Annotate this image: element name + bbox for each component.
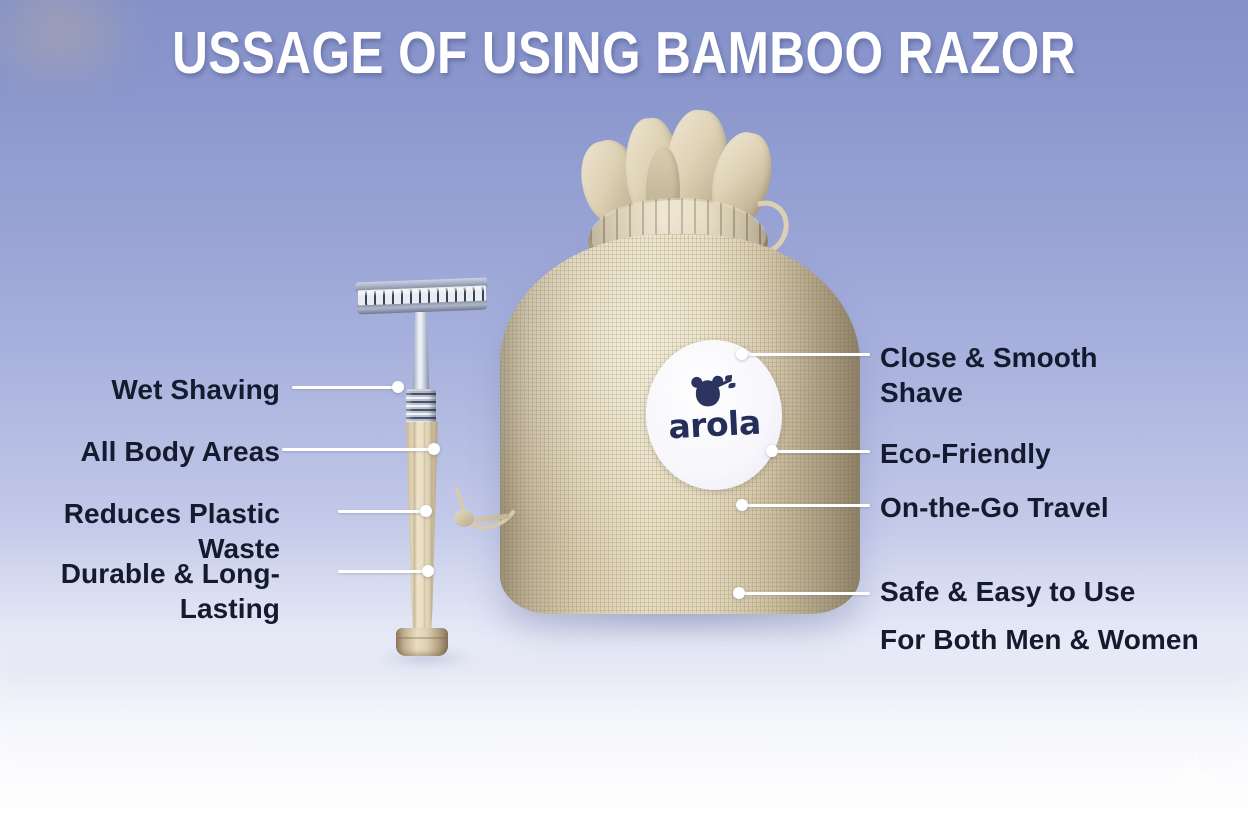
callout-close-smooth-shave: Close & Smooth Shave [880, 340, 1098, 410]
callout-all-body-areas: All Body Areas [80, 434, 280, 469]
pouch-drawstring-cord [454, 476, 528, 540]
leader-dot-durable-long-lasting [422, 565, 434, 577]
leader-dot-on-the-go-travel [736, 499, 748, 511]
leader-dot-eco-friendly [766, 445, 778, 457]
brand-subtext [648, 454, 784, 461]
jute-drawstring-pouch: arola [470, 104, 890, 624]
leader-line-reduces-plastic-waste [338, 510, 426, 513]
callout-on-the-go-travel: On-the-Go Travel [880, 490, 1109, 525]
razor-handle-base [396, 628, 448, 656]
razor-neck [410, 312, 432, 392]
leader-line-safe-easy-to-use [742, 592, 870, 595]
razor-head [355, 277, 488, 316]
leader-line-close-smooth-shave [742, 353, 870, 356]
infographic-canvas: USSAGE OF USING BAMBOO RAZOR [0, 0, 1248, 832]
callout-wet-shaving: Wet Shaving [111, 372, 280, 407]
callout-durable-long-lasting: Durable & Long-Lasting [0, 556, 280, 626]
brand-name: arola [646, 404, 784, 444]
leader-line-on-the-go-travel [742, 504, 870, 507]
leader-line-all-body-areas [282, 448, 434, 451]
four-point-star-icon [1168, 750, 1222, 804]
leader-dot-all-body-areas [428, 443, 440, 455]
callout-eco-friendly: Eco-Friendly [880, 436, 1051, 471]
razor-bamboo-handle [400, 422, 444, 636]
razor-knurled-collar [406, 389, 436, 425]
leader-dot-reduces-plastic-waste [420, 505, 432, 517]
page-title: USSAGE OF USING BAMBOO RAZOR [100, 22, 1148, 84]
leader-line-durable-long-lasting [338, 570, 428, 573]
callout-safe-easy-to-use: Safe & Easy to Use [880, 574, 1135, 609]
leader-dot-wet-shaving [392, 381, 404, 393]
leader-dot-safe-easy-to-use [733, 587, 745, 599]
leader-line-eco-friendly [772, 450, 870, 453]
leader-dot-close-smooth-shave [736, 348, 748, 360]
leader-line-wet-shaving [292, 386, 398, 389]
callout-for-both-men-women: For Both Men & Women [880, 622, 1199, 657]
